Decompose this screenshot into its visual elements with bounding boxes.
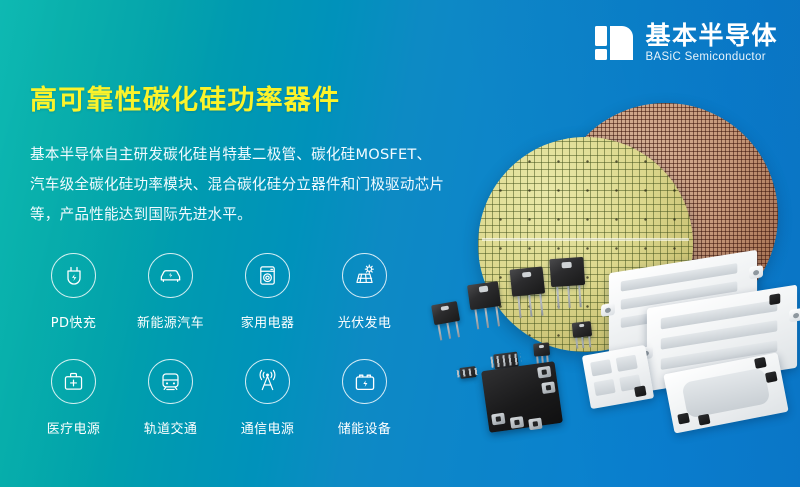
solar-panel-icon	[342, 253, 387, 298]
brand-name-cn: 基本半导体	[645, 23, 778, 48]
application-label: 轨道交通	[144, 418, 198, 437]
to-247-package	[510, 266, 548, 318]
electric-car-icon	[148, 253, 193, 298]
application-label: PD快充	[51, 312, 96, 331]
power-plug-icon	[51, 253, 96, 298]
application-item-rail-transit[interactable]: 轨道交通	[122, 359, 219, 465]
application-item-new-energy-vehicle[interactable]: 新能源汽车	[122, 253, 219, 359]
white-power-module-small	[582, 345, 654, 409]
to-247-package	[467, 281, 504, 330]
application-item-home-appliance[interactable]: 家用电器	[219, 253, 316, 359]
soic-package	[493, 352, 519, 370]
product-banner: 基本半导体 BASiC Semiconductor 高可靠性碳化硅功率器件 基本…	[0, 0, 800, 487]
sic-wafer-front	[478, 137, 693, 352]
page-title: 高可靠性碳化硅功率器件	[30, 78, 340, 117]
application-item-photovoltaic[interactable]: 光伏发电	[316, 253, 413, 359]
white-power-module-large	[647, 285, 797, 392]
application-label: 通信电源	[241, 418, 295, 437]
sic-wafer-back	[553, 103, 778, 328]
brand-logo[interactable]: 基本半导体 BASiC Semiconductor	[594, 23, 778, 64]
application-item-telecom-power[interactable]: 通信电源	[219, 359, 316, 465]
soic-package	[459, 366, 476, 379]
application-label: 医疗电源	[47, 418, 101, 437]
application-label: 光伏发电	[338, 312, 392, 331]
white-power-module-large	[609, 250, 757, 354]
battery-storage-icon	[342, 359, 387, 404]
basic-semiconductor-logo-icon	[594, 23, 634, 63]
application-icon-grid: PD快充 新能源汽车	[25, 253, 413, 465]
application-item-medical-power[interactable]: 医疗电源	[25, 359, 122, 465]
brand-name-en: BASiC Semiconductor	[645, 52, 778, 64]
black-power-module	[481, 361, 563, 433]
application-label: 新能源汽车	[137, 312, 204, 331]
application-label: 储能设备	[338, 418, 392, 437]
application-item-pd-charging[interactable]: PD快充	[25, 253, 122, 359]
wafer-die-pattern	[478, 137, 693, 352]
application-label: 家用电器	[241, 312, 295, 331]
hero-description: 基本半导体自主研发碳化硅肖特基二极管、碳化硅MOSFET、汽车级全碳化硅功率模块…	[30, 140, 445, 230]
white-power-module-large	[663, 352, 788, 433]
train-icon	[148, 359, 193, 404]
washing-machine-icon	[245, 253, 290, 298]
antenna-tower-icon	[245, 359, 290, 404]
to-220-package	[431, 301, 463, 341]
medical-kit-icon	[51, 359, 96, 404]
application-item-energy-storage[interactable]: 储能设备	[316, 359, 413, 465]
dpak-package	[572, 321, 594, 349]
dpak-package	[533, 342, 551, 365]
to-247-package	[549, 257, 586, 309]
